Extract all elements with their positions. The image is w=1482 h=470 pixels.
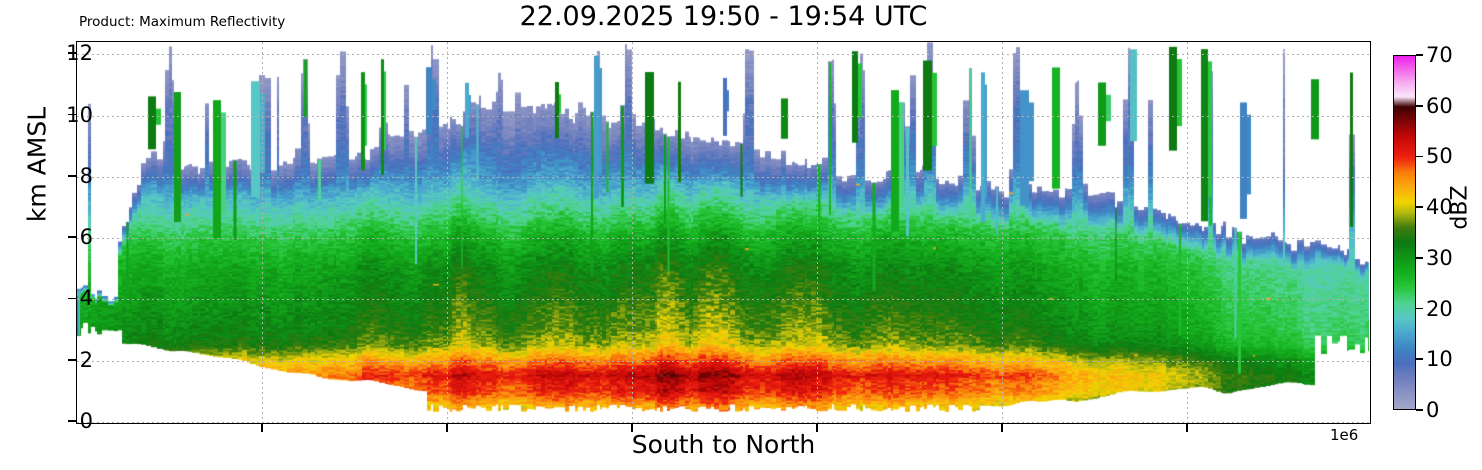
y-tick-mark <box>68 420 76 422</box>
reflectivity-heatmap <box>77 42 1369 422</box>
gridline-horizontal <box>77 177 1370 178</box>
y-tick-mark <box>68 175 76 177</box>
gridline-vertical <box>817 42 818 423</box>
y-tick-label: 2 <box>80 350 93 371</box>
product-annotation: Product: Maximum Reflectivity <box>79 14 285 30</box>
gridline-vertical <box>447 42 448 423</box>
y-tick-label: 12 <box>66 43 93 64</box>
colorbar <box>1393 55 1416 410</box>
y-tick-mark <box>68 236 76 238</box>
gridline-horizontal <box>77 422 1370 423</box>
gridline-horizontal <box>77 238 1370 239</box>
gridline-vertical <box>262 42 263 423</box>
y-axis-label: km AMSL <box>23 65 52 265</box>
y-tick-mark <box>68 298 76 300</box>
gridline-vertical <box>1002 42 1003 423</box>
y-tick-mark <box>68 359 76 361</box>
y-tick-label: 6 <box>80 227 93 248</box>
colorbar-tick-mark <box>1416 54 1423 56</box>
colorbar-gradient <box>1394 56 1415 409</box>
gridline-horizontal <box>77 299 1370 300</box>
y-tick-label: 0 <box>80 411 93 432</box>
colorbar-tick-mark <box>1416 156 1423 158</box>
colorbar-tick-label: 20 <box>1426 299 1453 320</box>
colorbar-tick-mark <box>1416 308 1423 310</box>
colorbar-tick-mark <box>1416 409 1423 411</box>
colorbar-label: dBZ <box>1448 143 1473 273</box>
colorbar-tick-label: 0 <box>1426 400 1439 421</box>
colorbar-tick-mark <box>1416 105 1423 107</box>
y-tick-label: 10 <box>66 105 93 126</box>
colorbar-tick-mark <box>1416 358 1423 360</box>
x-axis-offset-label: 1e6 <box>1330 426 1358 444</box>
plot-area <box>76 41 1371 424</box>
gridline-vertical <box>1187 42 1188 423</box>
colorbar-tick-label: 10 <box>1426 349 1453 370</box>
x-axis-label: South to North <box>76 430 1371 459</box>
gridline-horizontal <box>77 116 1370 117</box>
gridline-vertical <box>632 42 633 423</box>
y-tick-label: 8 <box>80 166 93 187</box>
gridline-horizontal <box>77 361 1370 362</box>
colorbar-tick-mark <box>1416 257 1423 259</box>
colorbar-tick-mark <box>1416 206 1423 208</box>
colorbar-tick-label: 70 <box>1426 45 1453 66</box>
colorbar-tick-label: 60 <box>1426 96 1453 117</box>
radar-cross-section-figure: 22.09.2025 19:50 - 19:54 UTC Product: Ma… <box>0 0 1482 470</box>
y-tick-label: 4 <box>80 288 93 309</box>
gridline-horizontal <box>77 54 1370 55</box>
